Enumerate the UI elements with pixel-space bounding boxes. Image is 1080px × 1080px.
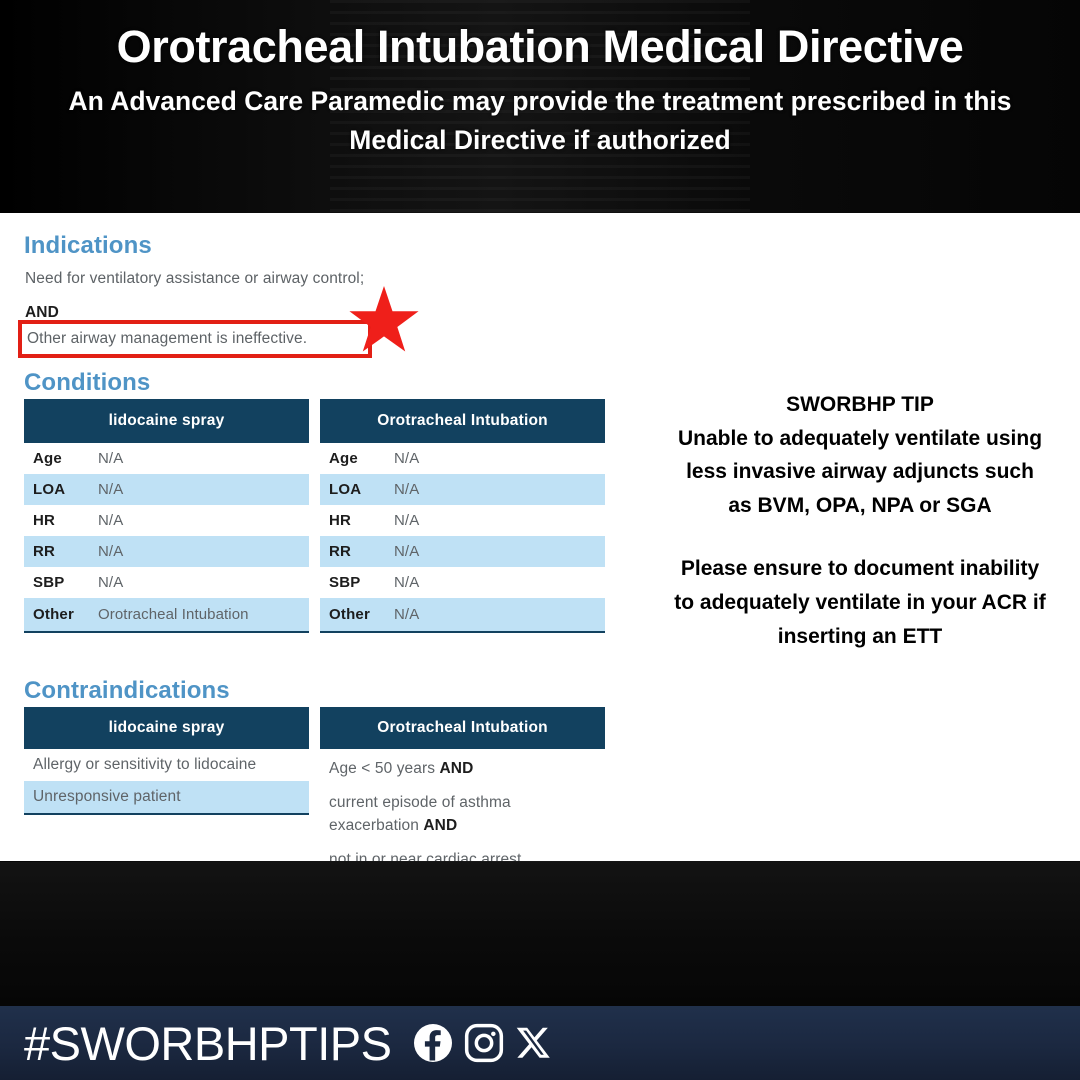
conditions-table-intubation: Orotracheal Intubation Age N/A LOA N/A H… bbox=[320, 399, 605, 633]
medical-directive-document: Indications Need for ventilatory assista… bbox=[0, 213, 640, 861]
indications-line-1: Need for ventilatory assistance or airwa… bbox=[25, 270, 364, 288]
document-panel: Indications Need for ventilatory assista… bbox=[0, 213, 1080, 861]
background-lower-band bbox=[0, 862, 1080, 1008]
tip-spacer bbox=[645, 522, 1075, 552]
row-value: N/A bbox=[98, 574, 123, 591]
indications-highlighted-line: Other airway management is ineffective. bbox=[27, 330, 307, 348]
table-bottom-rule bbox=[24, 813, 309, 815]
contraindications-heading: Contraindications bbox=[24, 677, 230, 705]
row-value: N/A bbox=[98, 450, 123, 467]
poster-canvas: Orotracheal Intubation Medical Directive… bbox=[0, 0, 1080, 1080]
row-value: N/A bbox=[394, 512, 419, 529]
social-icons bbox=[413, 1023, 553, 1063]
tip-paragraph1-line2: less invasive airway adjuncts such bbox=[645, 455, 1075, 489]
table-header: lidocaine spray bbox=[24, 707, 309, 749]
row-label: LOA bbox=[320, 481, 394, 498]
row-label: Age bbox=[320, 450, 394, 467]
page-subtitle: An Advanced Care Paramedic may provide t… bbox=[35, 82, 1045, 159]
table-header: lidocaine spray bbox=[24, 399, 309, 443]
list-item: Unresponsive patient bbox=[24, 781, 309, 813]
instagram-icon[interactable] bbox=[464, 1023, 504, 1063]
row-label: Other bbox=[24, 606, 98, 623]
row-label: Age bbox=[24, 450, 98, 467]
row-value: Orotracheal Intubation bbox=[98, 606, 249, 623]
tip-paragraph1-line3: as BVM, OPA, NPA or SGA bbox=[645, 489, 1075, 523]
sworbhp-tip-block: SWORBHP TIP Unable to adequately ventila… bbox=[645, 388, 1075, 653]
row-value: N/A bbox=[394, 543, 419, 560]
tip-paragraph2-line3: inserting an ETT bbox=[645, 620, 1075, 654]
row-label: HR bbox=[24, 512, 98, 529]
row-label: Other bbox=[320, 606, 394, 623]
table-row: Other N/A bbox=[320, 598, 605, 631]
x-icon[interactable] bbox=[515, 1024, 553, 1062]
table-row: Age N/A bbox=[320, 443, 605, 474]
contraindications-table-intubation: Orotracheal Intubation Age < 50 years AN… bbox=[320, 707, 605, 861]
table-row: LOA N/A bbox=[320, 474, 605, 505]
conditions-table-lidocaine: lidocaine spray Age N/A LOA N/A HR N/A R… bbox=[24, 399, 309, 633]
table-header: Orotracheal Intubation bbox=[320, 399, 605, 443]
table-row: SBP N/A bbox=[320, 567, 605, 598]
row-label: SBP bbox=[24, 574, 98, 591]
table-row: HR N/A bbox=[320, 505, 605, 536]
contraindications-table-lidocaine: lidocaine spray Allergy or sensitivity t… bbox=[24, 707, 309, 815]
hashtag-label: #SWORBHPTIPS bbox=[24, 1016, 391, 1071]
tip-paragraph2-line2: to adequately ventilate in your ACR if bbox=[645, 586, 1075, 620]
table-row: SBP N/A bbox=[24, 567, 309, 598]
indications-heading: Indications bbox=[24, 232, 152, 260]
row-label: HR bbox=[320, 512, 394, 529]
conditions-heading: Conditions bbox=[24, 369, 150, 397]
list-item: current episode of asthma exacerbation A… bbox=[320, 780, 564, 837]
row-value: N/A bbox=[394, 450, 419, 467]
row-value: N/A bbox=[394, 606, 419, 623]
row-label: LOA bbox=[24, 481, 98, 498]
table-row: RR N/A bbox=[320, 536, 605, 567]
row-value: N/A bbox=[98, 512, 123, 529]
list-item: Age < 50 years AND bbox=[320, 749, 605, 780]
table-row: Age N/A bbox=[24, 443, 309, 474]
row-label: RR bbox=[24, 543, 98, 560]
row-label: SBP bbox=[320, 574, 394, 591]
poster-header: Orotracheal Intubation Medical Directive… bbox=[0, 0, 1080, 213]
list-item: not in or near cardiac arrest. bbox=[320, 837, 605, 861]
tip-paragraph1-line1: Unable to adequately ventilate using bbox=[645, 422, 1075, 456]
row-value: N/A bbox=[394, 481, 419, 498]
row-value: N/A bbox=[394, 574, 419, 591]
page-title: Orotracheal Intubation Medical Directive bbox=[0, 0, 1080, 72]
table-bottom-rule bbox=[320, 631, 605, 633]
table-header: Orotracheal Intubation bbox=[320, 707, 605, 749]
table-bottom-rule bbox=[24, 631, 309, 633]
row-value: N/A bbox=[98, 481, 123, 498]
poster-footer: #SWORBHPTIPS bbox=[0, 1006, 1080, 1080]
table-row: HR N/A bbox=[24, 505, 309, 536]
row-label: RR bbox=[320, 543, 394, 560]
table-row: Other Orotracheal Intubation bbox=[24, 598, 309, 631]
table-row: LOA N/A bbox=[24, 474, 309, 505]
tip-title: SWORBHP TIP bbox=[645, 388, 1075, 422]
row-value: N/A bbox=[98, 543, 123, 560]
table-row: RR N/A bbox=[24, 536, 309, 567]
tip-paragraph2-line1: Please ensure to document inability bbox=[645, 552, 1075, 586]
facebook-icon[interactable] bbox=[413, 1023, 453, 1063]
list-item: Allergy or sensitivity to lidocaine bbox=[24, 749, 309, 781]
